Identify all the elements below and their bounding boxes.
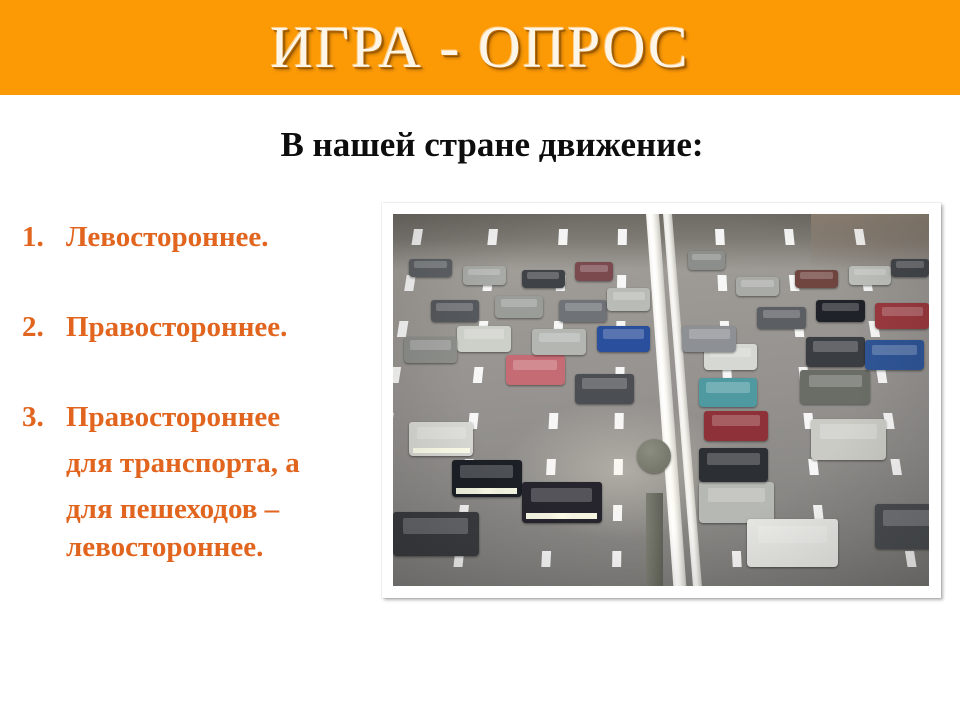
photo-vignette	[393, 214, 929, 586]
traffic-jam-photo	[393, 214, 929, 586]
answer-option-2[interactable]: 2. Правостороннее.	[22, 304, 372, 350]
answer-line: Левостороннее.	[66, 214, 372, 260]
slide-canvas: ИГРА - ОПРОС В нашей стране движение: 1.…	[0, 0, 960, 720]
answer-number-3: 3.	[22, 394, 66, 440]
answer-options-list: 1. Левостороннее. 2. Правостороннее. 3. …	[22, 214, 372, 570]
answer-text-2: Правостороннее.	[66, 304, 372, 350]
answer-text-3: Правостороннее для транспорта, а для пеш…	[66, 394, 372, 570]
photo-frame	[382, 203, 941, 598]
answer-line: левостороннее.	[66, 524, 372, 570]
slide-title: ИГРА - ОПРОС	[0, 12, 960, 82]
question-heading: В нашей стране движение:	[0, 122, 960, 168]
answer-number-2: 2.	[22, 304, 66, 350]
answer-option-1[interactable]: 1. Левостороннее.	[22, 214, 372, 260]
answer-text-1: Левостороннее.	[66, 214, 372, 260]
answer-line: Правостороннее	[66, 394, 372, 440]
answer-line: для транспорта, а	[66, 440, 372, 486]
answer-number-1: 1.	[22, 214, 66, 260]
answer-line: Правостороннее.	[66, 304, 372, 350]
answer-option-3[interactable]: 3. Правостороннее для транспорта, а для …	[22, 394, 372, 570]
